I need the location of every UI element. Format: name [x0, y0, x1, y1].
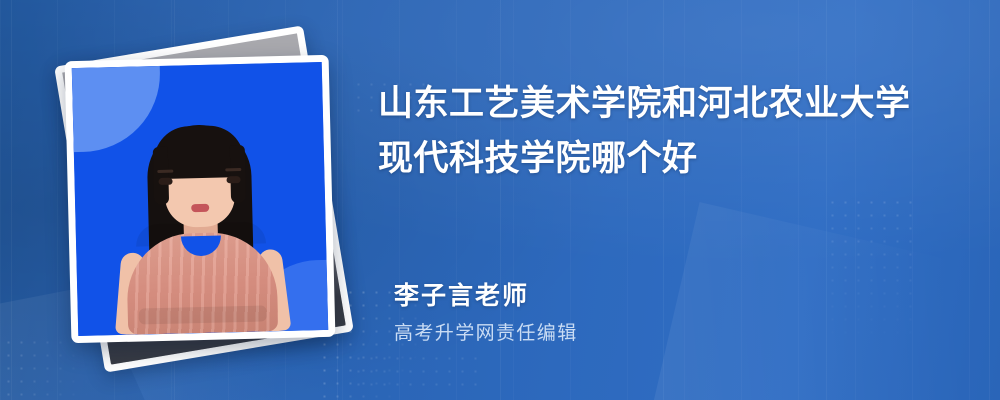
portrait-dress-waist [139, 305, 267, 324]
banner-text-block: 山东工艺美术学院和河北农业大学 现代科技学院哪个好 李子言老师 高考升学网责任编… [378, 0, 978, 400]
article-banner: 山东工艺美术学院和河北农业大学 现代科技学院哪个好 李子言老师 高考升学网责任编… [0, 0, 1000, 400]
photo-card-stack [52, 34, 352, 364]
portrait-brow-left [157, 170, 173, 173]
author-role: 高考升学网责任编辑 [394, 318, 578, 345]
page-title: 山东工艺美术学院和河北农业大学 现代科技学院哪个好 [378, 76, 962, 186]
portrait-brow-right [225, 168, 241, 171]
portrait-eye-right [226, 176, 240, 183]
page-title-line-2: 现代科技学院哪个好 [378, 131, 962, 186]
author-photo [72, 62, 328, 336]
author-name: 李子言老师 [394, 276, 529, 312]
portrait-lips [191, 204, 209, 212]
page-title-line-1: 山东工艺美术学院和河北农业大学 [378, 76, 962, 131]
portrait-eye-left [158, 178, 172, 185]
photo-card-front [65, 55, 336, 343]
portrait-illustration [98, 107, 303, 336]
